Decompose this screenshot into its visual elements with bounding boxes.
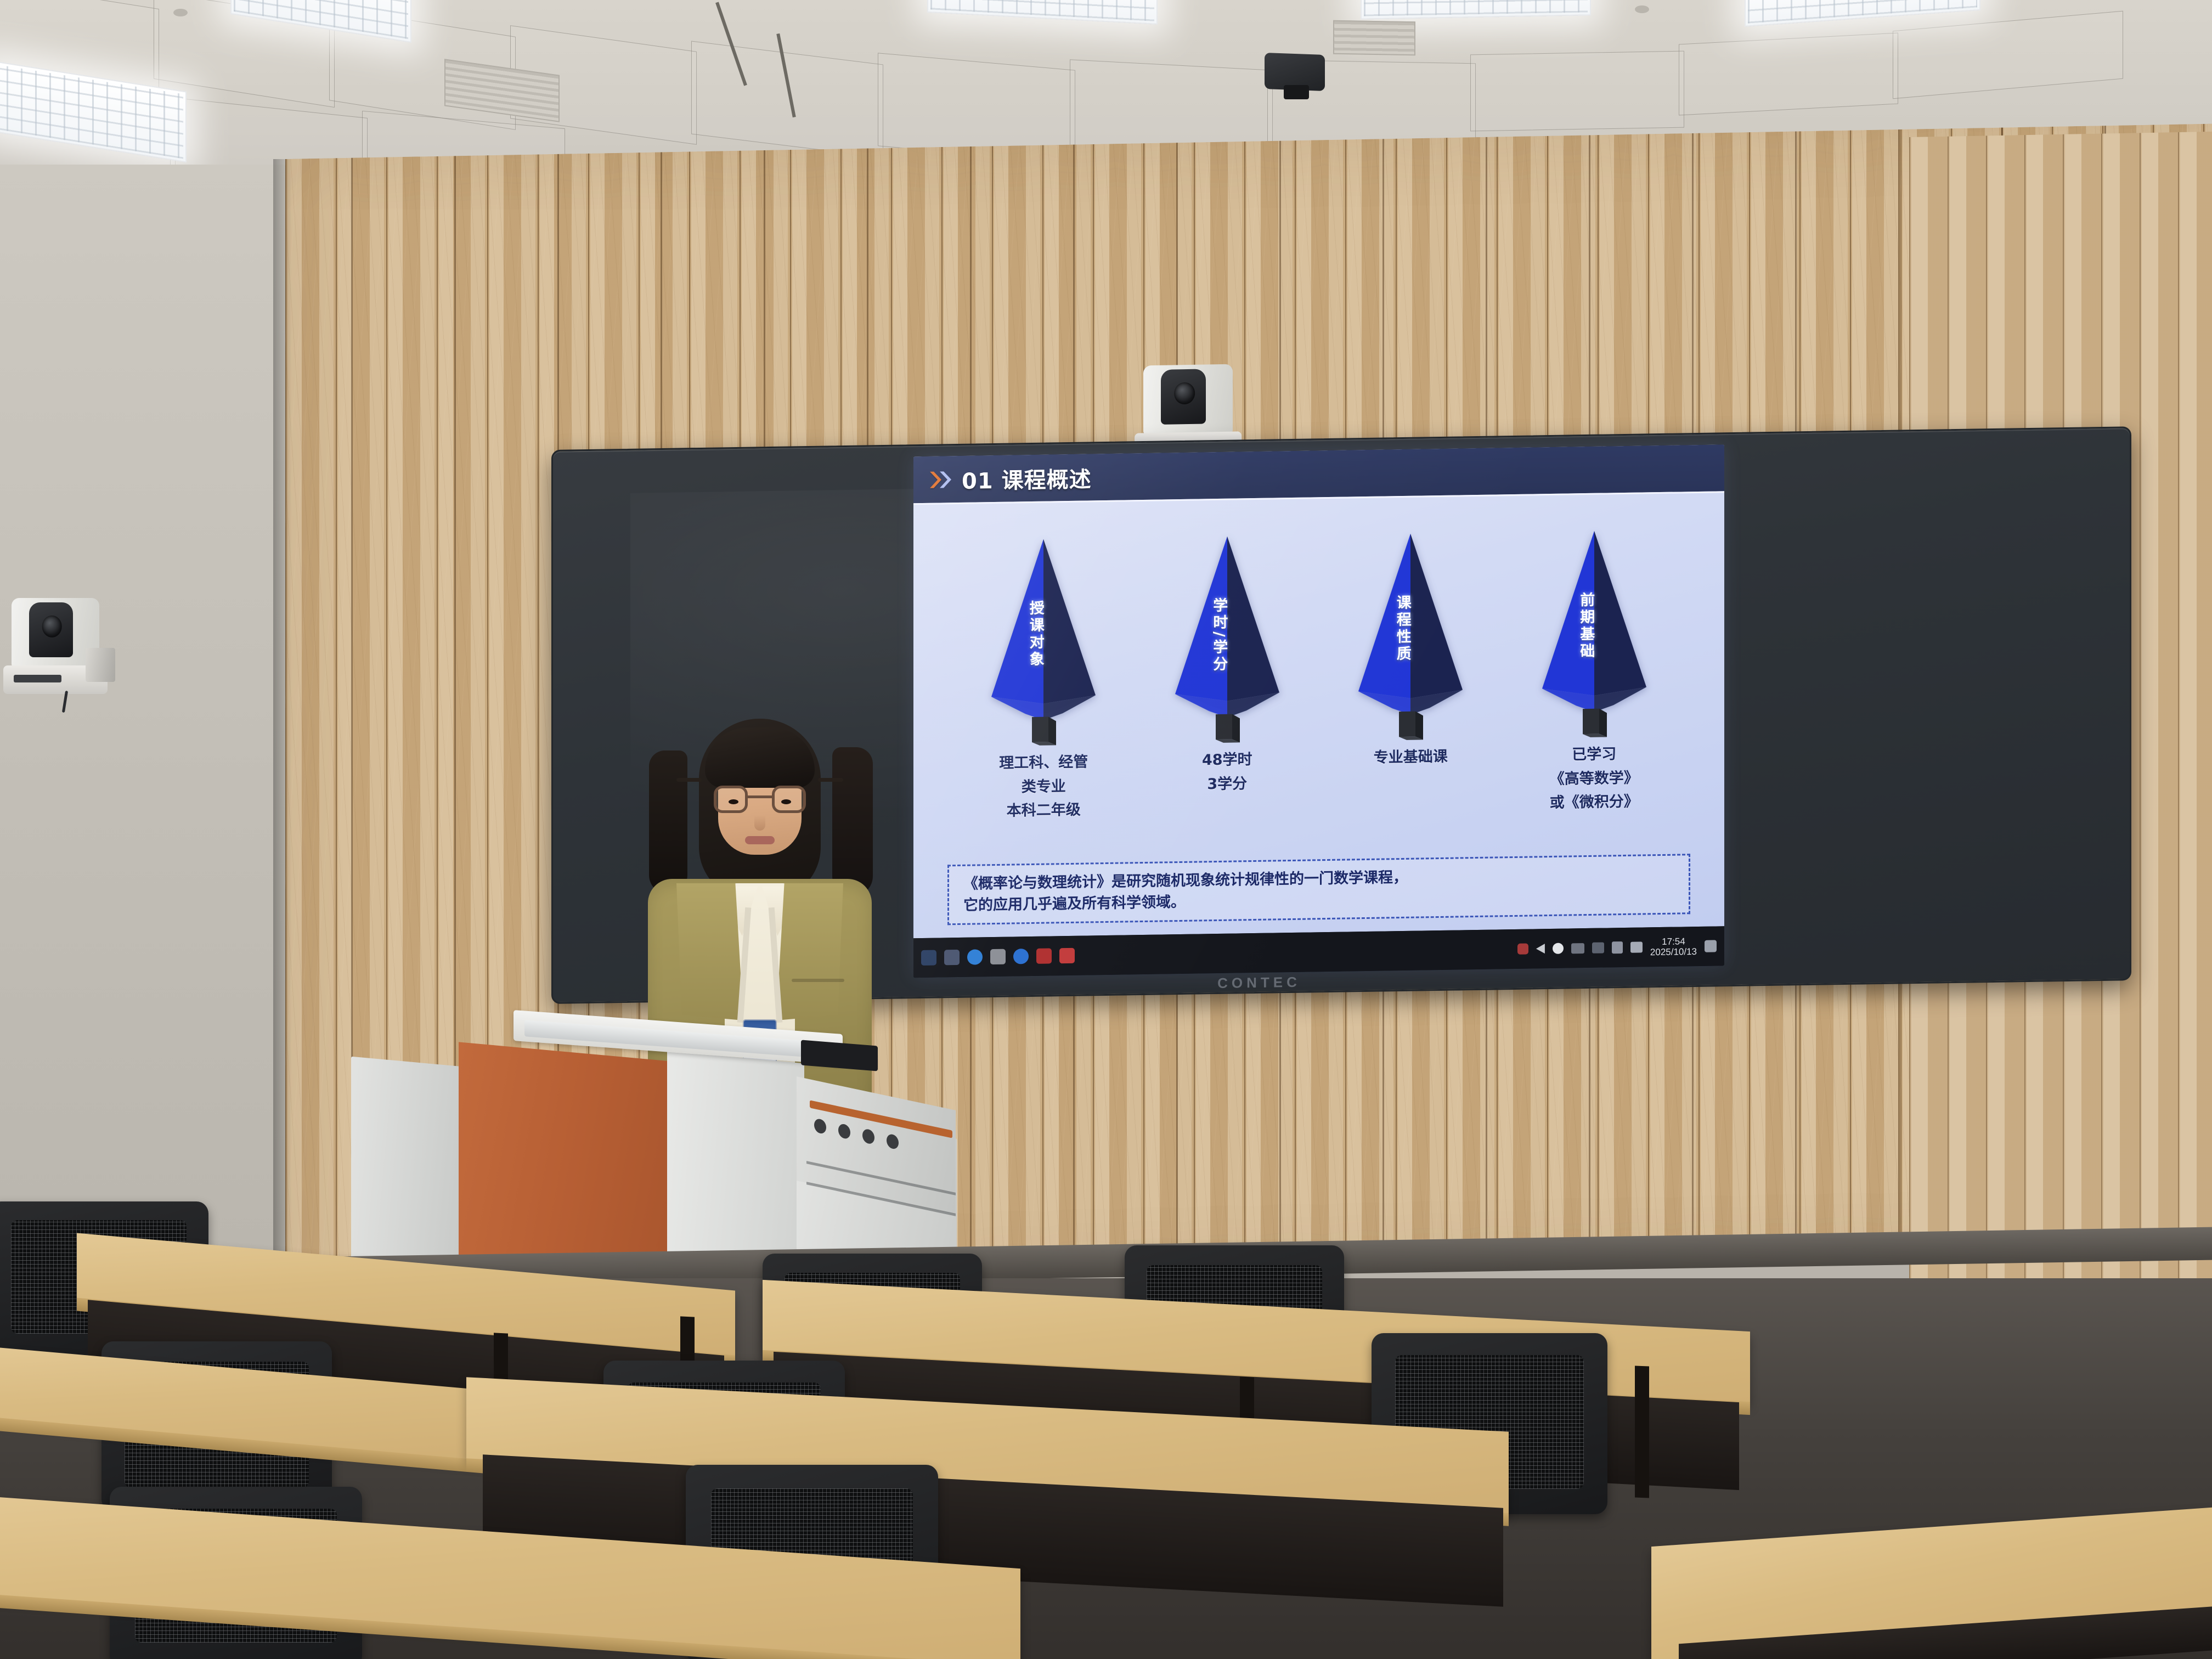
pyramid-base bbox=[1393, 708, 1427, 742]
speaker-hole bbox=[814, 1118, 826, 1135]
mouth bbox=[745, 836, 775, 844]
hair-right bbox=[832, 747, 873, 896]
pyramid-base bbox=[1577, 705, 1611, 740]
caption-cell: 理工科、经管 类专业 本科二年级 bbox=[975, 750, 1112, 862]
caption-line: 已学习 bbox=[1526, 742, 1663, 768]
chevron-group bbox=[929, 470, 953, 489]
wall-corner-shadow bbox=[273, 159, 292, 1256]
tray-icon-2[interactable] bbox=[1536, 944, 1545, 953]
display-screen[interactable]: 01 课程概述 授课对象 bbox=[913, 444, 1724, 978]
hair-left bbox=[649, 751, 687, 894]
camera-lens-icon bbox=[42, 616, 62, 637]
ceiling-tile bbox=[1470, 51, 1684, 132]
ceiling-tile bbox=[1679, 33, 1898, 116]
eye-right bbox=[781, 799, 791, 804]
classroom-scene: CONTEC 01 课程概述 bbox=[0, 0, 2212, 1659]
caption-line: 类专业 bbox=[975, 774, 1112, 800]
eyebrow-right bbox=[818, 778, 843, 782]
hair-front bbox=[705, 727, 815, 788]
tray-icon-1[interactable] bbox=[1517, 944, 1528, 955]
ceiling-vent bbox=[1333, 20, 1415, 56]
podium-microphone[interactable] bbox=[801, 1040, 878, 1071]
speaker-hole bbox=[862, 1128, 874, 1145]
pyramid-row: 授课对象 bbox=[913, 505, 1724, 753]
ime-icon[interactable] bbox=[1630, 941, 1643, 952]
caption-line: 《高等数学》 bbox=[1526, 766, 1663, 792]
explorer-icon[interactable] bbox=[990, 949, 1006, 964]
taskbar-clock[interactable]: 17:54 2025/10/13 bbox=[1650, 936, 1697, 957]
speaker-hole bbox=[838, 1123, 850, 1140]
chevron-right-icon bbox=[929, 470, 943, 489]
sprinkler-head bbox=[173, 9, 188, 16]
caption-cell: 已学习 《高等数学》 或《微积分》 bbox=[1526, 742, 1663, 854]
eye-left bbox=[729, 799, 738, 804]
camera-lens-icon bbox=[1174, 382, 1195, 405]
pyramid-label: 课程性质 bbox=[1392, 594, 1413, 663]
glasses-icon bbox=[714, 786, 806, 814]
pyramid-label: 学时/学分 bbox=[1208, 597, 1229, 673]
pdf-icon[interactable] bbox=[1036, 948, 1052, 963]
display-brand-logo: CONTEC bbox=[1177, 970, 1341, 995]
caption-line: 专业基础课 bbox=[1342, 744, 1479, 770]
caption-row: 理工科、经管 类专业 本科二年级 48学时 3学分 专业基础课 已学习 《高等数… bbox=[913, 741, 1724, 862]
lapel-right bbox=[776, 883, 843, 1020]
desk-leg bbox=[1635, 1366, 1649, 1498]
caption-cell: 48学时 3学分 bbox=[1159, 747, 1296, 859]
left-wall bbox=[0, 165, 307, 1317]
sprinkler-head bbox=[1635, 5, 1649, 13]
pyramid-cell: 学时/学分 bbox=[1159, 511, 1296, 749]
ceiling-light bbox=[927, 0, 1158, 25]
pyramid-cell: 课程性质 bbox=[1342, 509, 1479, 747]
caption-line: 本科二年级 bbox=[975, 798, 1112, 823]
pyramid-label: 前期基础 bbox=[1575, 592, 1596, 661]
clock-time: 17:54 bbox=[1662, 936, 1685, 947]
blazer-pocket bbox=[792, 979, 844, 982]
tray-icon-4[interactable] bbox=[1571, 943, 1584, 953]
slide-title: 01 课程概述 bbox=[962, 461, 1092, 495]
pyramid-base bbox=[1210, 710, 1244, 745]
camera-head bbox=[1161, 369, 1206, 425]
camera-body bbox=[1143, 364, 1233, 435]
tray-icon-5[interactable] bbox=[1592, 943, 1604, 953]
caption-line: 理工科、经管 bbox=[975, 750, 1112, 776]
caption-line: 48学时 bbox=[1159, 747, 1296, 773]
wall-mounted-ptz-camera bbox=[3, 598, 108, 694]
pyramid-base bbox=[1026, 713, 1060, 748]
media-icon[interactable] bbox=[1059, 948, 1075, 963]
presentation-slide: 01 课程概述 授课对象 bbox=[913, 444, 1724, 938]
show-desktop-icon[interactable] bbox=[1705, 940, 1717, 952]
note-box: 《概率论与数理统计》是研究随机现象统计规律性的一门数学课程， 它的应用几乎遍及所… bbox=[947, 854, 1690, 925]
lapel-left bbox=[676, 883, 743, 1020]
nose bbox=[754, 815, 765, 831]
ceiling-light bbox=[1361, 0, 1591, 20]
browser-icon[interactable] bbox=[967, 949, 983, 964]
tray-icon-6[interactable] bbox=[1612, 941, 1623, 953]
ceiling-light bbox=[1745, 0, 1980, 27]
camera-ir-slot bbox=[14, 675, 61, 682]
glasses-lens-right bbox=[772, 786, 806, 813]
app-icon-1[interactable] bbox=[921, 950, 936, 966]
glasses-bridge bbox=[748, 795, 772, 798]
pyramid-cell: 前期基础 bbox=[1526, 506, 1663, 744]
camera-wall-bracket bbox=[86, 648, 115, 682]
ceiling-tile bbox=[691, 41, 883, 158]
caption-line: 或《微积分》 bbox=[1526, 789, 1663, 815]
pyramid-label: 授课对象 bbox=[1025, 600, 1046, 668]
taskbar-system-tray: 17:54 2025/10/13 bbox=[1517, 935, 1717, 959]
projector-mount bbox=[1284, 85, 1309, 99]
speaker-hole bbox=[887, 1133, 899, 1150]
caption-cell: 专业基础课 bbox=[1342, 744, 1479, 856]
taskbar-app-icons bbox=[921, 948, 1075, 966]
clock-date: 2025/10/13 bbox=[1650, 946, 1697, 957]
caption-line: 3学分 bbox=[1159, 771, 1296, 797]
ceiling-tile bbox=[1893, 11, 2123, 99]
camera-head bbox=[29, 602, 73, 658]
app-icon-2[interactable] bbox=[944, 950, 960, 965]
tray-icon-3[interactable] bbox=[1553, 943, 1564, 954]
edge-icon[interactable] bbox=[1013, 949, 1029, 964]
glasses-lens-left bbox=[714, 786, 748, 813]
eyebrow-left bbox=[676, 778, 702, 782]
pyramid-cell: 授课对象 bbox=[975, 514, 1112, 752]
